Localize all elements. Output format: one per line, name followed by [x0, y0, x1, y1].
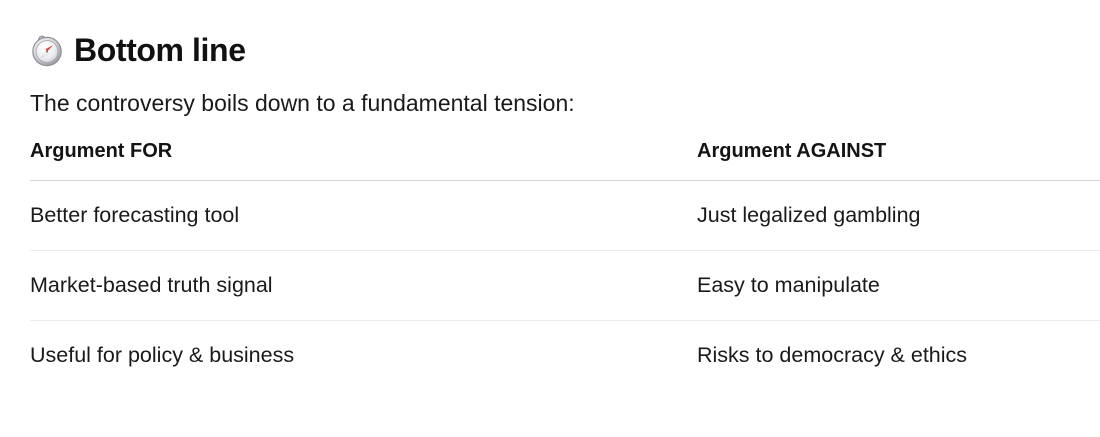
- bottom-line-section: Bottom line The controversy boils down t…: [0, 0, 1100, 437]
- cell-argument-against: Risks to democracy & ethics: [697, 321, 1100, 391]
- cell-argument-against: Easy to manipulate: [697, 251, 1100, 321]
- cell-argument-against: Just legalized gambling: [697, 181, 1100, 251]
- table-header-row: Argument FOR Argument AGAINST: [30, 140, 1100, 181]
- column-header-argument-for: Argument FOR: [30, 140, 697, 181]
- arguments-table: Argument FOR Argument AGAINST Better for…: [30, 140, 1100, 390]
- table-row: Useful for policy & business Risks to de…: [30, 321, 1100, 391]
- table-body: Better forecasting tool Just legalized g…: [30, 181, 1100, 391]
- page-title: Bottom line: [74, 30, 246, 70]
- table-row: Market-based truth signal Easy to manipu…: [30, 251, 1100, 321]
- cell-argument-for: Useful for policy & business: [30, 321, 697, 391]
- cell-argument-for: Market-based truth signal: [30, 251, 697, 321]
- intro-text: The controversy boils down to a fundamen…: [0, 72, 1100, 118]
- table-row: Better forecasting tool Just legalized g…: [30, 181, 1100, 251]
- section-heading: Bottom line: [0, 0, 1100, 72]
- compass-icon: [30, 33, 64, 67]
- cell-argument-for: Better forecasting tool: [30, 181, 697, 251]
- column-header-argument-against: Argument AGAINST: [697, 140, 1100, 181]
- table-header: Argument FOR Argument AGAINST: [30, 140, 1100, 181]
